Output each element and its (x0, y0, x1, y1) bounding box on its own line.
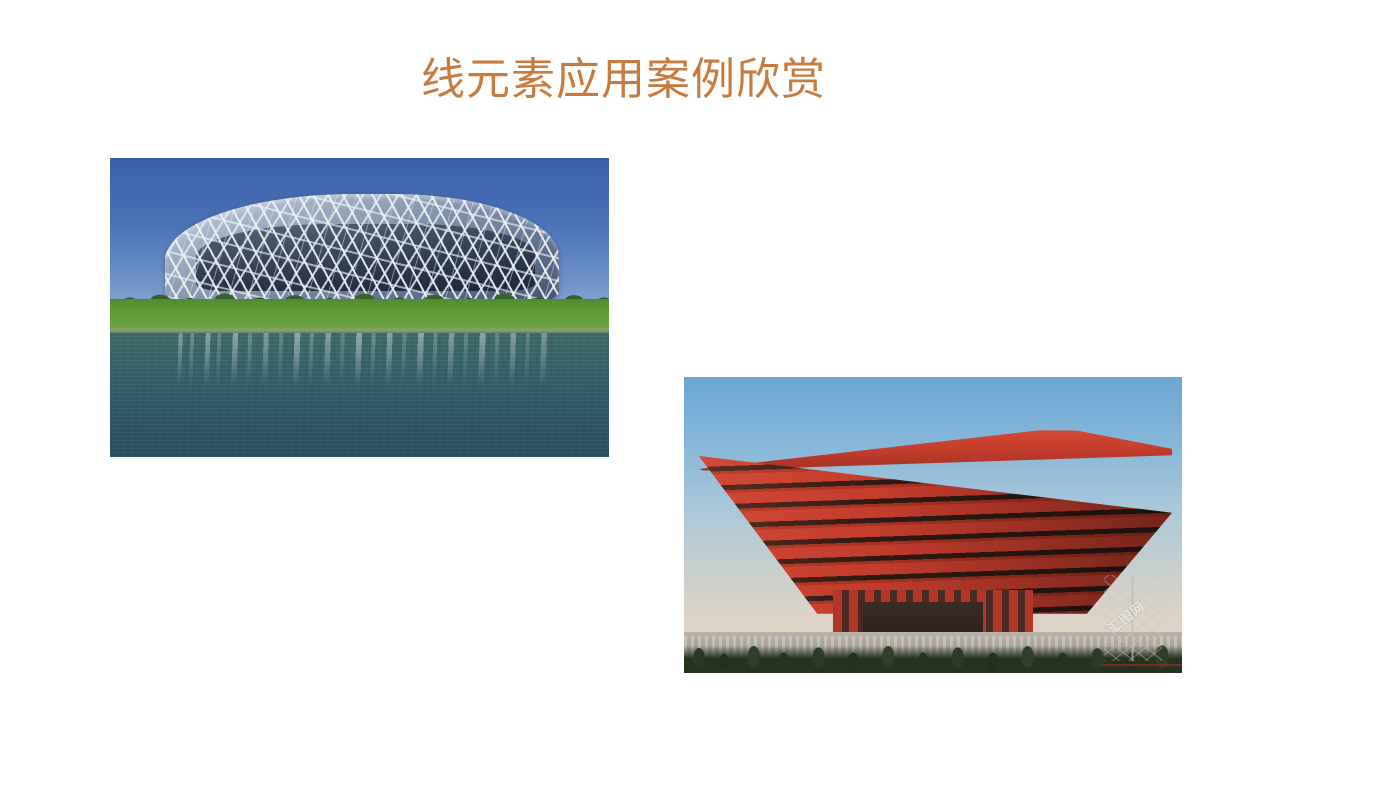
stadium-lattice-structure (165, 194, 559, 302)
pavilion-bottom-strip (1102, 664, 1182, 666)
image-beijing-national-stadium[interactable] (110, 158, 609, 457)
stadium-water-reflection (175, 333, 559, 387)
image-china-pavilion[interactable]: 汇图网 (684, 377, 1182, 673)
page-title: 线元素应用案例欣赏 (0, 52, 1247, 108)
slide-canvas: 线元素应用案例欣赏 汇图网 (0, 0, 1390, 793)
stadium-lawn (110, 299, 609, 330)
pavilion-roof (699, 430, 1172, 614)
